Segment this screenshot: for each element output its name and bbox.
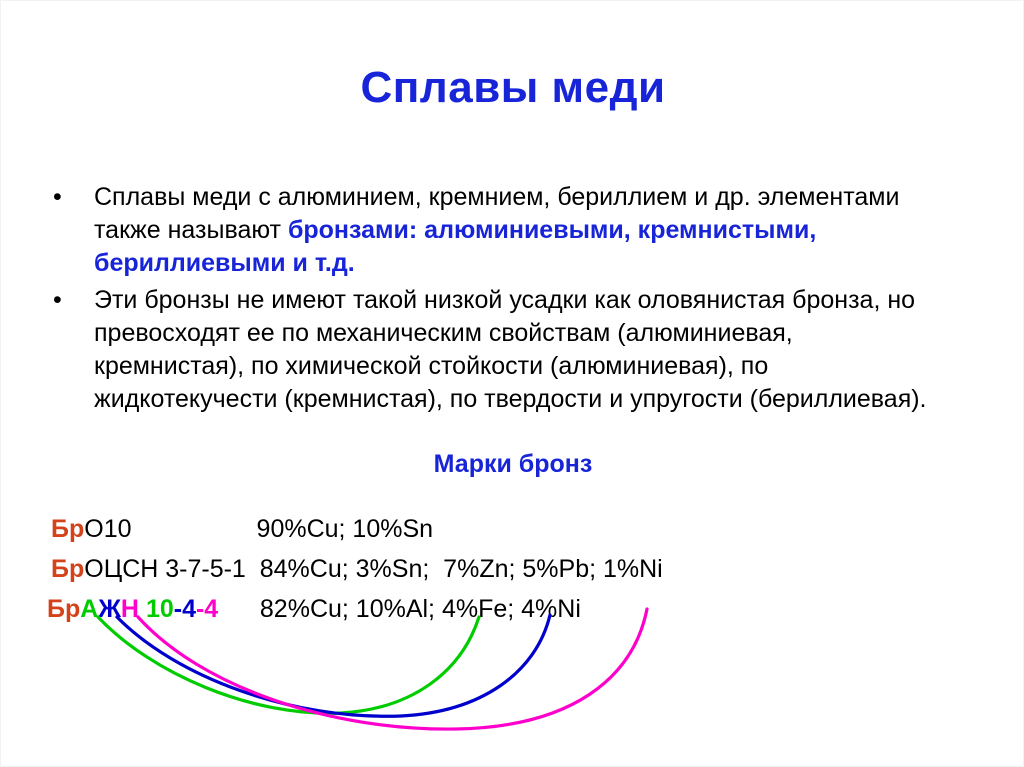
bullet-text: Эти бронзы не имеют такой низкой усадки …: [94, 284, 945, 416]
grade-letter-nickel: Н: [121, 595, 139, 623]
grade-row: БрО10 90%Cu; 10%Sn: [51, 515, 433, 543]
connector-fe-curve: [117, 615, 550, 716]
grade-row: БрАЖН 10-4-4 82%Cu; 10%Al; 4%Fe; 4%Ni: [47, 595, 581, 623]
grade-composition: 84%Cu; 3%Sn; 7%Zn; 5%Pb; 1%Ni: [260, 555, 663, 583]
grade-letter-iron: Ж: [98, 595, 121, 623]
grade-space: [139, 595, 146, 623]
bullet-list: • Сплавы меди с алюминием, кремнием, бер…: [45, 181, 945, 420]
grade-prefix: Бр: [51, 555, 84, 583]
connector-ni-curve: [138, 609, 647, 729]
grade-number-aluminium: 10: [146, 595, 174, 623]
grade-letter-aluminium: А: [80, 595, 98, 623]
slide-canvas: Сплавы меди • Сплавы меди с алюминием, к…: [0, 0, 1024, 767]
page-title: Сплавы меди: [1, 63, 1024, 113]
bullet-text: Сплавы меди с алюминием, кремнием, берил…: [94, 181, 945, 280]
grade-composition: 90%Cu; 10%Sn: [257, 515, 434, 543]
grade-code: ОЦСН 3-7-5-1: [84, 555, 246, 583]
grade-row: БрОЦСН 3-7-5-1 84%Cu; 3%Sn; 7%Zn; 5%Pb; …: [51, 555, 663, 583]
grade-composition: 82%Cu; 10%Al; 4%Fe; 4%Ni: [260, 595, 581, 623]
list-item: • Сплавы меди с алюминием, кремнием, бер…: [45, 181, 945, 280]
connector-al-curve: [98, 617, 479, 713]
list-item: • Эти бронзы не имеют такой низкой усадк…: [45, 284, 945, 416]
section-heading-marks: Марки бронз: [1, 450, 1024, 479]
grade-number-nickel: -4: [196, 595, 218, 623]
grade-gap: [218, 595, 260, 623]
grade-gap: [246, 555, 260, 583]
grade-number-iron: -4: [174, 595, 196, 623]
bullet-marker-icon: •: [45, 284, 94, 317]
grade-prefix: Бр: [47, 595, 80, 623]
bullet-marker-icon: •: [45, 181, 94, 214]
grade-code: О10: [84, 515, 131, 543]
grade-gap: [132, 515, 257, 543]
grade-prefix: Бр: [51, 515, 84, 543]
